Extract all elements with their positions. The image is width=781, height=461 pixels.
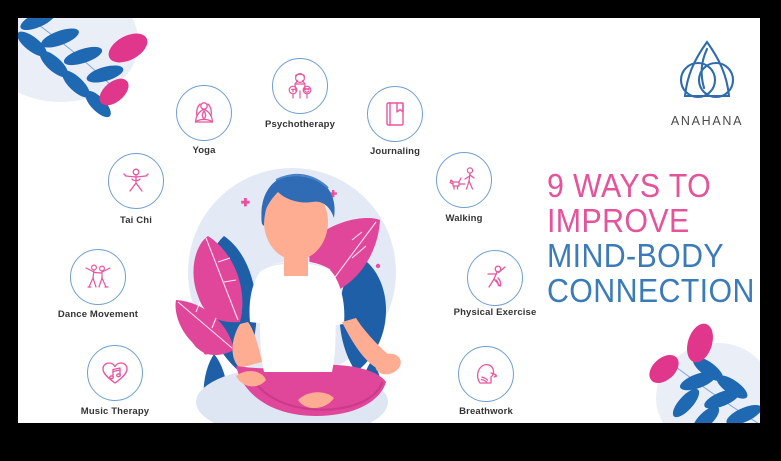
badge-label-tai-chi: Tai Chi (120, 215, 152, 226)
heart-music-note-icon (100, 358, 130, 388)
badge-journaling[interactable] (367, 86, 423, 142)
infographic-canvas: Yoga (18, 18, 760, 423)
headline-line-4: CONNECTION (547, 273, 759, 308)
badge-label-yoga: Yoga (192, 145, 215, 156)
psychotherapy-icon (284, 70, 316, 102)
leaf-branch-decoration-bottom-right (640, 319, 760, 423)
journal-book-icon (380, 99, 410, 129)
tai-chi-figure-icon (120, 165, 152, 197)
dancing-couple-icon (82, 261, 114, 293)
meditating-person-illustration (166, 146, 416, 423)
headline-line-2: IMPROVE (547, 203, 759, 238)
badge-label-walking: Walking (445, 213, 482, 224)
badge-label-physical-exercise: Physical Exercise (454, 307, 537, 318)
badge-breathwork[interactable] (458, 346, 514, 402)
badge-dance-movement[interactable] (70, 249, 126, 305)
headline-line-1: 9 WAYS TO (547, 168, 759, 203)
headline: 9 WAYS TO IMPROVE MIND-BODY CONNECTION (547, 168, 760, 308)
badge-tai-chi[interactable] (108, 153, 164, 209)
badge-label-dance-movement: Dance Movement (58, 309, 138, 320)
leaf-branch-decoration-top-left (18, 18, 160, 122)
badge-label-music-therapy: Music Therapy (81, 406, 149, 417)
headline-line-3: MIND-BODY (547, 238, 759, 273)
badge-label-breathwork: Breathwork (459, 406, 513, 417)
badge-label-psychotherapy: Psychotherapy (265, 119, 335, 130)
stretching-exercise-icon (479, 262, 511, 294)
badge-walking[interactable] (436, 152, 492, 208)
badge-music-therapy[interactable] (87, 345, 143, 401)
breathing-head-icon (471, 359, 501, 389)
badge-yoga[interactable] (176, 85, 232, 141)
badge-label-journaling: Journaling (370, 146, 420, 157)
brand-logo: ANAHANA (668, 36, 746, 128)
badge-psychotherapy[interactable] (272, 58, 328, 114)
screenshot-frame: Yoga (0, 0, 781, 461)
yoga-meditation-icon (189, 98, 219, 128)
walking-dog-icon (448, 164, 480, 196)
badge-physical-exercise[interactable] (467, 250, 523, 306)
triquetra-icon (671, 36, 743, 108)
brand-name: ANAHANA (668, 114, 746, 128)
